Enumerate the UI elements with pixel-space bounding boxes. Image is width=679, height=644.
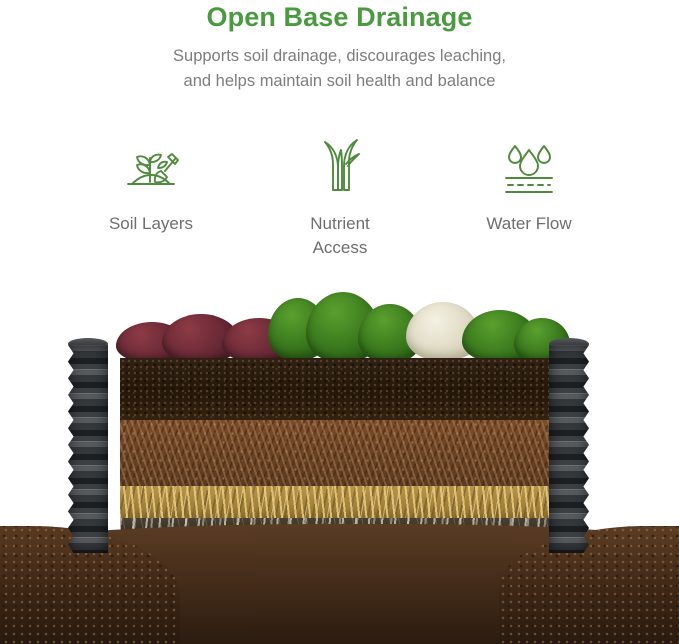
feature-row: Soil Layers Nutrient Access xyxy=(62,134,618,260)
soil-layer-topsoil xyxy=(120,358,560,420)
feature-label: Soil Layers xyxy=(109,212,193,236)
soil-layer-mulch-compost xyxy=(120,420,560,486)
feature-nutrient-access: Nutrient Access xyxy=(251,134,429,260)
water-droplets-icon xyxy=(498,134,560,196)
corrugated-wall-post-right xyxy=(549,345,589,553)
feature-soil-layers: Soil Layers xyxy=(62,134,240,236)
sprout-shovel-icon xyxy=(120,134,182,196)
corrugation-texture xyxy=(68,345,108,553)
corrugation-texture xyxy=(549,345,589,553)
product-photo xyxy=(0,270,679,644)
plant-row xyxy=(110,288,570,360)
page-subhead: Supports soil drainage, discourages leac… xyxy=(0,44,679,94)
subhead-line-1: Supports soil drainage, discourages leac… xyxy=(0,44,679,69)
feature-label-line-2: Access xyxy=(313,238,368,257)
feature-label: Water Flow xyxy=(486,212,571,236)
feature-label-line-1: Nutrient xyxy=(310,214,370,233)
subhead-line-2: and helps maintain soil health and balan… xyxy=(0,69,679,94)
grass-blades-icon xyxy=(311,134,369,196)
corrugated-wall-post-left xyxy=(68,345,108,553)
feature-water-flow: Water Flow xyxy=(440,134,618,236)
feature-label: Nutrient Access xyxy=(310,212,370,260)
page-headline: Open Base Drainage xyxy=(0,0,679,34)
